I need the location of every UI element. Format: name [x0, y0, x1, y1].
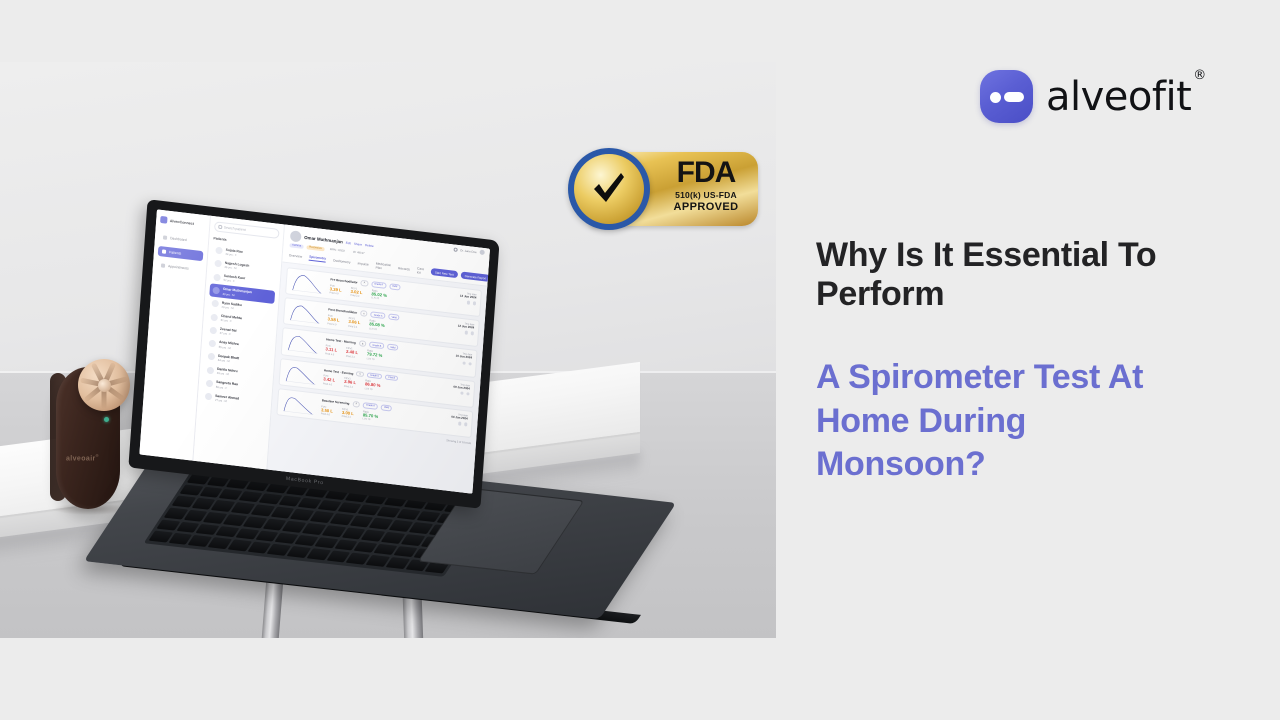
test-card-list: Pre BronchodilatorAGrade AValidFVC3.39 L…	[267, 262, 487, 493]
metric: FEV13.00 LPred 3.4	[342, 407, 355, 419]
patient-meta: 40 yrs · M	[222, 292, 234, 296]
test-card-side: Test date12 Jun 2024	[429, 288, 476, 313]
test-chip: Grade A	[371, 311, 386, 319]
avatar	[211, 313, 219, 321]
topbar-user-label: Dr. Jane Doe	[460, 248, 477, 254]
device-brand-label: alveoair®	[66, 453, 114, 462]
view-icon[interactable]	[464, 331, 468, 335]
metric: Ratio86.80 %LLN 70	[365, 380, 381, 392]
metric: FVC3.50 LPred 4.0	[321, 405, 334, 417]
user-avatar-icon[interactable]	[479, 250, 484, 256]
tab-spirometry[interactable]: Spirometry	[309, 254, 326, 262]
alveofit-wordmark: alveofit®	[1046, 74, 1204, 120]
test-chip: A	[352, 401, 360, 408]
app-logo-icon	[160, 216, 168, 224]
test-chip: Valid	[387, 344, 399, 351]
test-title: Home Test · Evening	[324, 368, 354, 375]
alveofit-logo: alveofit®	[980, 70, 1204, 123]
test-card-side: Test date09 Jun 2024	[423, 379, 470, 404]
laptop: Dr. Jane Doe AlveoConnect Dashboar	[120, 212, 720, 632]
fda-seal-ring	[568, 148, 650, 230]
avatar	[210, 326, 218, 334]
patient-meta: 34 yrs · F	[225, 253, 237, 257]
device-status-led	[104, 417, 109, 422]
headline-line-1: Why Is It Essential To	[816, 236, 1248, 275]
tab-impulse[interactable]: Impulse	[357, 261, 368, 266]
status-badge: Asthma	[289, 243, 303, 249]
patient-meta: 27 yrs · M	[215, 399, 227, 403]
view-icon[interactable]	[460, 391, 464, 395]
metric: Ratio85.70 %LLN 70	[362, 410, 378, 422]
search-placeholder: Search patient	[224, 225, 246, 232]
download-icon[interactable]	[470, 332, 474, 336]
test-card-body: Post BronchodilatorAGrade AValidFVC3.58 …	[327, 306, 423, 336]
avatar	[209, 340, 217, 348]
avatar	[207, 366, 215, 374]
metric: FEV13.06 LPred 3.4	[348, 317, 361, 329]
subhead-line-1: A Spirometer Test At	[816, 356, 1248, 400]
metric: FVC3.11 LPred 4.0	[325, 344, 337, 356]
check-mark-icon	[589, 169, 629, 209]
avatar	[212, 287, 220, 295]
sidebar-item-patients[interactable]: Patients	[158, 246, 204, 261]
device-registered-mark: ®	[96, 453, 99, 458]
status-badge: Restrictive	[307, 245, 325, 251]
test-chip: Check	[385, 374, 398, 381]
avatar	[215, 247, 223, 255]
test-card-body: Baseline ScreeningAGrade AValidFVC3.50 L…	[321, 397, 417, 427]
patient-meta: 44 yrs · M	[218, 359, 230, 363]
hero-photo: alveoair®	[0, 62, 776, 638]
search-patient-input[interactable]: Search patient	[214, 221, 280, 239]
brand-name-text: alveofit	[1046, 74, 1191, 120]
subhead-line-2: Home During	[816, 400, 1248, 444]
test-chip: B	[359, 341, 367, 348]
banner-canvas: alveoair®	[0, 0, 1280, 720]
view-icon[interactable]	[467, 301, 471, 305]
flow-volume-curve	[290, 272, 325, 295]
avatar	[214, 260, 222, 268]
download-icon[interactable]	[466, 392, 470, 396]
turbine-hub	[98, 379, 111, 392]
download-icon[interactable]	[464, 422, 468, 426]
test-title: Home Test · Morning	[326, 338, 356, 345]
headline-line-2: Perform	[816, 275, 1248, 314]
patient-avatar	[290, 230, 302, 242]
subhead-line-3: Monsoon?	[816, 443, 1248, 487]
patient-meta: 55 yrs · M	[219, 346, 231, 350]
flow-volume-curve	[286, 332, 321, 355]
sidebar-item-label: Dashboard	[170, 236, 187, 242]
tab-overview[interactable]: Overview	[289, 253, 303, 259]
patient-meta: 33 yrs · M	[217, 372, 229, 376]
test-chip: C	[356, 371, 364, 378]
download-icon[interactable]	[468, 362, 472, 366]
test-chip: Grade C	[367, 372, 382, 380]
tab-oscillometry[interactable]: Oscillometry	[333, 258, 351, 264]
page-subtitle: A Spirometer Test At Home During Monsoon…	[816, 356, 1248, 487]
test-chip: Grade B	[369, 342, 384, 350]
users-icon	[162, 249, 166, 253]
sidebar-item-dashboard[interactable]: Dashboard	[159, 232, 205, 247]
flow-volume-curve	[282, 393, 317, 416]
patient-meta: 29 yrs · M	[221, 306, 233, 310]
sidebar-item-label: Appointments	[168, 264, 189, 270]
test-chip: Valid	[388, 314, 400, 321]
test-card-side: Test date12 Jun 2024	[427, 318, 474, 343]
test-chip: Valid	[381, 404, 393, 411]
tab-medication-plan[interactable]: Medication Plan	[375, 261, 391, 271]
logo-dot	[990, 92, 1001, 103]
alveofit-squircle-logo	[980, 70, 1033, 123]
metric: Ratio85.08 %LLN 70	[369, 319, 385, 331]
patient-link[interactable]: Share	[354, 241, 362, 246]
test-card-side: Test date10 Jun 2024	[425, 349, 472, 374]
metric: FEV12.96 LPred 3.4	[344, 377, 357, 389]
view-icon[interactable]	[462, 361, 466, 365]
fda-approved-badge: FDA 510(k) US-FDA APPROVED	[568, 148, 760, 232]
flow-volume-curve	[288, 302, 323, 325]
calendar-icon	[161, 263, 165, 267]
metric: Ratio79.72 %LLN 70	[367, 349, 383, 361]
search-icon	[218, 225, 222, 229]
laptop-screen: Dr. Jane Doe AlveoConnect Dashboar	[139, 209, 490, 493]
avatar	[213, 273, 221, 281]
dashboard-app: Dr. Jane Doe AlveoConnect Dashboar	[139, 209, 490, 493]
view-icon[interactable]	[458, 422, 462, 426]
fda-title: FDA	[677, 158, 736, 188]
flow-volume-curve	[284, 362, 319, 385]
test-title: Baseline Screening	[322, 398, 350, 405]
fda-subtitle: 510(k) US-FDA	[675, 190, 737, 200]
sidebar-item-appointments[interactable]: Appointments	[157, 260, 203, 275]
fda-text-group: FDA 510(k) US-FDA APPROVED	[658, 158, 754, 213]
tab-records[interactable]: Records	[398, 266, 410, 271]
test-chip: Grade A	[363, 402, 378, 410]
patient-items: Sujata Rao34 yrs · FNagesh Logesh46 yrs …	[202, 243, 278, 410]
test-card-body: Home Test · MorningBGrade BValidFVC3.11 …	[325, 337, 421, 367]
avatar	[212, 300, 220, 308]
patient-meta: 37 yrs · F	[220, 332, 232, 336]
test-title: Pre Bronchodilator	[330, 277, 357, 284]
fda-seal-inner	[574, 154, 644, 224]
metric: FEV12.48 LPred 3.4	[346, 347, 359, 359]
fda-approved-label: APPROVED	[674, 201, 739, 213]
grid-icon	[163, 235, 167, 239]
test-card-body: Pre BronchodilatorAGrade AValidFVC3.39 L…	[329, 276, 425, 306]
download-icon[interactable]	[472, 301, 476, 305]
text-panel: alveofit® Why Is It Essential To Perform…	[812, 0, 1252, 720]
avatar	[205, 393, 213, 401]
patient-meta: 61 yrs · F	[220, 319, 232, 323]
patient-link[interactable]: Edit	[346, 240, 351, 245]
test-chip: A	[360, 310, 368, 317]
patient-detail-panel: Omar Muthmanjan EditShareDelete AsthmaRe…	[267, 225, 490, 494]
avatar	[208, 353, 216, 361]
metric: FEV13.02 LPred 3.4	[350, 286, 363, 298]
patient-name: Omar Muthmanjan	[304, 235, 343, 245]
app-brand-name: AlveoConnect	[170, 219, 194, 226]
logo-pill	[1004, 92, 1024, 102]
sidebar-item-label: Patients	[169, 250, 182, 255]
patient-meta: 46 yrs · M	[224, 266, 236, 270]
brand-registered-mark: ®	[1193, 68, 1206, 83]
device-brand-text: alveoair	[66, 455, 96, 462]
metric: Ratio85.02 %LLN 70	[371, 289, 387, 301]
start-new-test-button[interactable]: Start New Test	[431, 268, 458, 278]
test-card-body: Home Test · EveningCGrade CCheckFVC3.42 …	[323, 367, 419, 397]
metric: FVC3.39 LPred 4.0	[329, 284, 342, 296]
status-badge: MRN: 10332	[327, 247, 347, 254]
test-chip: Valid	[389, 283, 401, 290]
app-logo: AlveoConnect	[160, 216, 206, 228]
metric: FVC3.42 LPred 4.0	[323, 375, 336, 387]
search-icon[interactable]	[453, 247, 457, 251]
avatar	[206, 380, 214, 388]
generate-report-button[interactable]: Generate Report	[460, 272, 490, 283]
laptop-lid: Dr. Jane Doe AlveoConnect Dashboar	[128, 199, 499, 509]
test-card-side: Test date04 Jun 2024	[421, 409, 468, 434]
test-chip: A	[360, 280, 368, 287]
test-chip: Grade A	[371, 281, 386, 289]
page-title: Why Is It Essential To Perform	[816, 236, 1248, 315]
test-title: Post Bronchodilator	[328, 307, 357, 314]
patient-meta: 52 yrs · F	[223, 279, 235, 283]
status-badge: ID: 48197	[350, 250, 367, 256]
tab-care-kit[interactable]: Care Kit	[417, 266, 424, 275]
patient-meta: 58 yrs · F	[216, 385, 228, 389]
metric: FVC3.58 LPred 4.0	[327, 314, 340, 326]
